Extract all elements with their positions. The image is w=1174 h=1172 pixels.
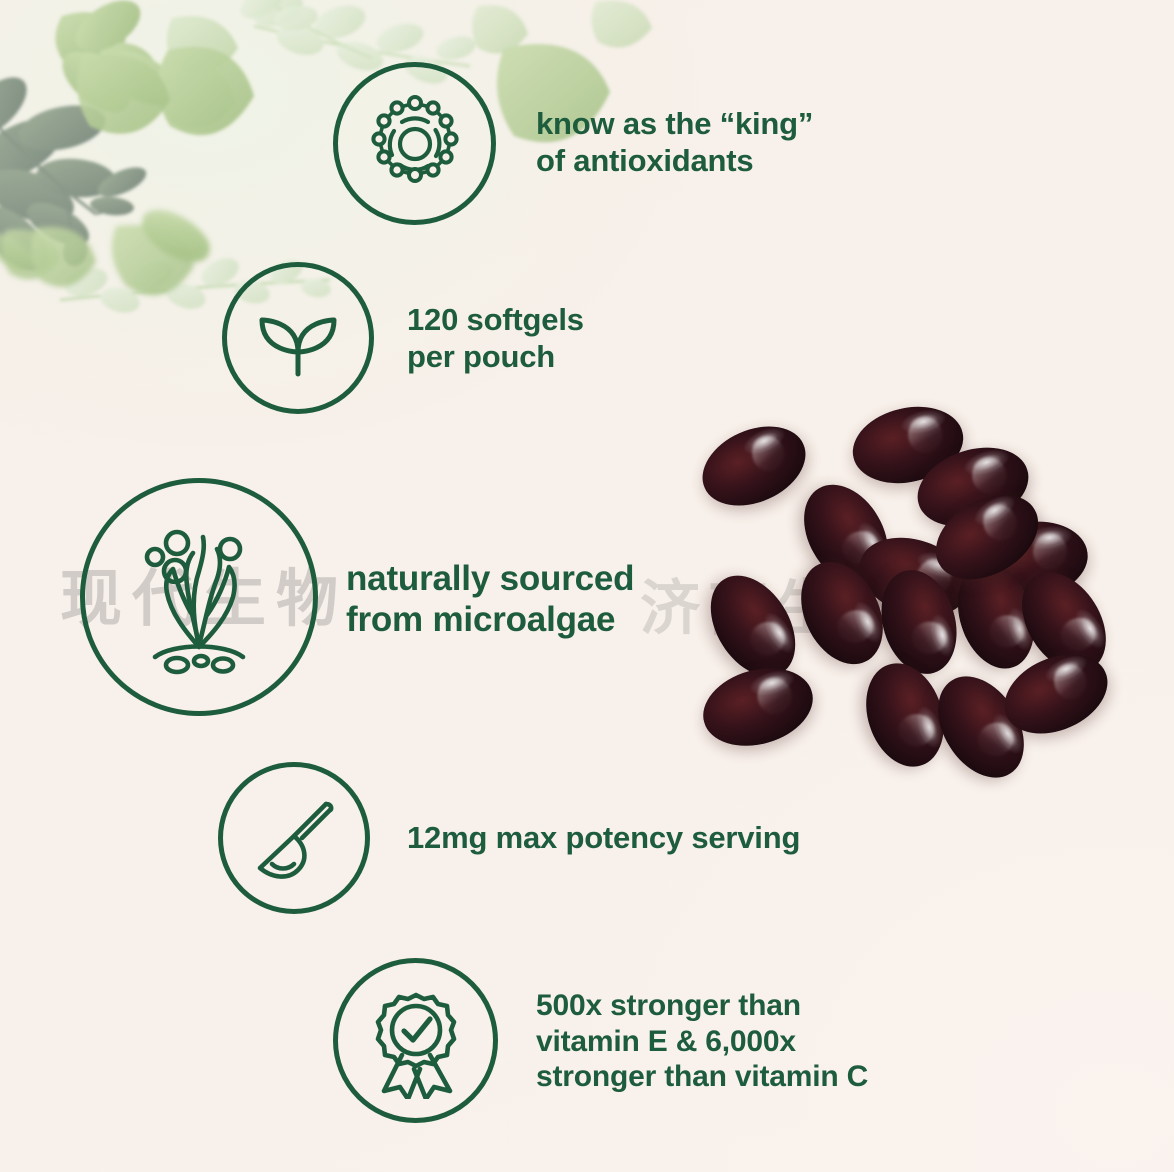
molecule-antioxidant-icon (333, 62, 496, 225)
feature-row-strength: 500x stronger than vitamin E & 6,000x st… (333, 958, 868, 1123)
feature-label-potency: 12mg max potency serving (407, 820, 800, 857)
softgel-capsule (690, 411, 818, 521)
feature-label-strength: 500x stronger than vitamin E & 6,000x st… (536, 988, 868, 1094)
feature-label-microalgae: naturally sourced from microalgae (346, 558, 634, 641)
astaxanthin-softgel-capsules (680, 390, 1100, 790)
infographic-canvas: 现代生物 济南生物 (0, 0, 1174, 1172)
sprout-leaves-icon (222, 262, 374, 414)
award-rosette-icon (333, 958, 498, 1123)
feature-row-potency: 12mg max potency serving (218, 762, 800, 914)
feature-row-microalgae: naturally sourced from microalgae (80, 478, 634, 716)
softgel-capsule (694, 656, 822, 758)
spoon-icon (218, 762, 370, 914)
feature-row-antioxidant: know as the “king” of antioxidants (333, 62, 813, 225)
feature-row-softgels: 120 softgels per pouch (222, 262, 584, 414)
feature-label-antioxidant: know as the “king” of antioxidants (536, 106, 813, 179)
seaweed-algae-icon (80, 478, 318, 716)
feature-label-softgels: 120 softgels per pouch (407, 302, 584, 375)
